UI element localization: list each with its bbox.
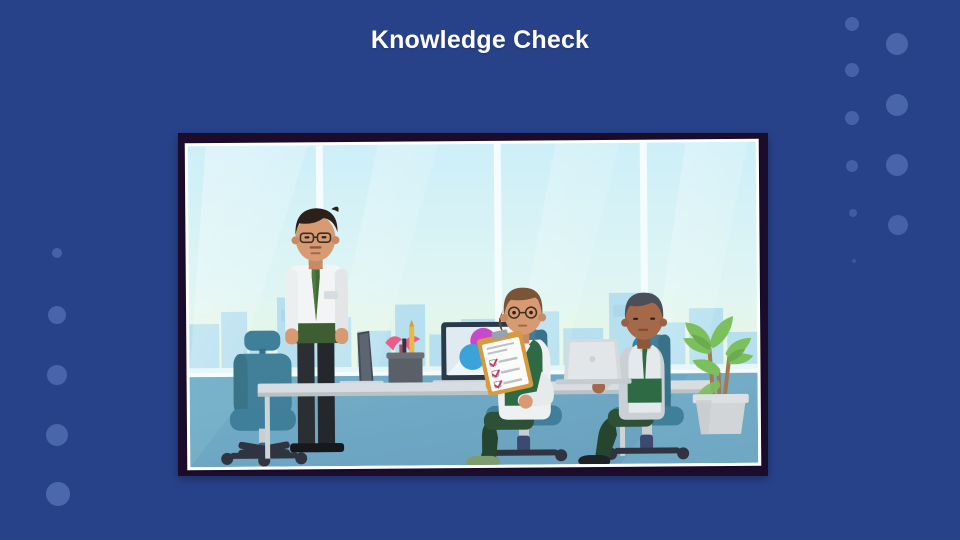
illustration-mat [185, 139, 762, 470]
decor-dot-right-5 [852, 259, 856, 263]
decor-dot-left-1 [48, 306, 66, 324]
decor-dot-right-2 [845, 111, 859, 125]
decor-dot-left-2 [47, 365, 67, 385]
office-meeting-illustration [188, 142, 759, 467]
decor-dot-right-4 [849, 209, 857, 217]
page-title: Knowledge Check [0, 26, 960, 55]
decor-dot-right-9 [888, 215, 908, 235]
decor-dot-left-3 [46, 424, 68, 446]
slide-canvas: Knowledge Check [0, 0, 960, 540]
decor-dot-right-8 [886, 154, 908, 176]
illustration-frame [178, 133, 768, 476]
decor-dot-left-0 [52, 248, 62, 258]
decor-dot-right-1 [845, 63, 859, 77]
decor-dot-right-7 [886, 94, 908, 116]
decor-dot-right-3 [846, 160, 858, 172]
decor-dot-left-4 [46, 482, 70, 506]
